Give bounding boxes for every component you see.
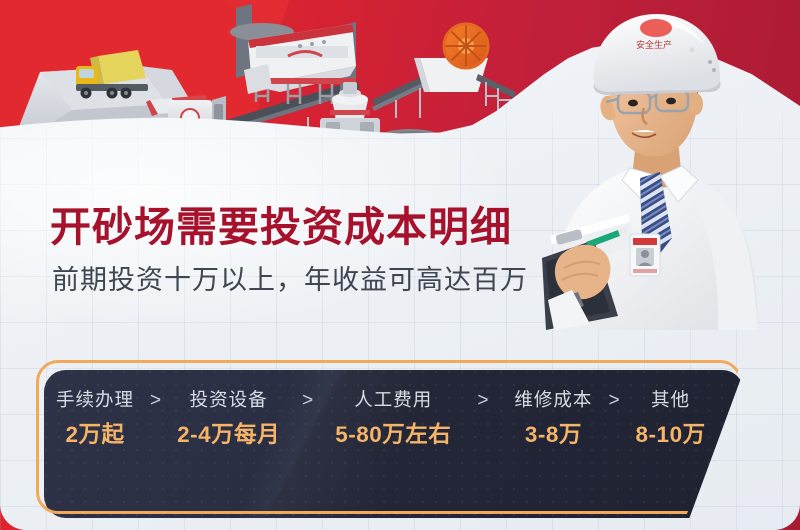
steps-list: 手续办理2万起>投资设备2-4万每月>人工费用5-80万左右>维修成本3-8万>… [56, 390, 716, 448]
step-separator-icon: > [477, 390, 488, 412]
cost-step[interactable]: 维修成本3-8万 [514, 390, 592, 448]
cost-step[interactable]: 人工费用5-80万左右 [335, 390, 451, 448]
cost-step-label: 投资设备 [190, 390, 268, 410]
cost-step-value: 2万起 [66, 423, 125, 448]
cost-step-label: 人工费用 [354, 390, 432, 410]
cost-step-value: 8-10万 [636, 423, 706, 448]
sand-washer [414, 24, 488, 92]
page-title: 开砂场需要投资成本明细 [50, 193, 512, 253]
cost-step-label: 维修成本 [514, 390, 592, 410]
cost-steps-card: 手续办理2万起>投资设备2-4万每月>人工费用5-80万左右>维修成本3-8万>… [36, 360, 764, 515]
eye-right [666, 98, 676, 105]
engineer-portrait: 安全生产 [532, 0, 782, 330]
cost-step-label: 手续办理 [56, 390, 134, 410]
cost-step[interactable]: 投资设备2-4万每月 [177, 390, 280, 448]
step-separator-icon: > [302, 390, 313, 412]
helmet-logo [640, 19, 672, 37]
cost-step-value: 2-4万每月 [177, 423, 280, 448]
step-separator-icon: > [150, 390, 161, 412]
cost-step-value: 5-80万左右 [335, 423, 451, 448]
cost-step-label: 其他 [651, 390, 690, 410]
id-badge [630, 234, 660, 276]
step-separator-icon: > [608, 390, 619, 412]
page-subtitle: 前期投资十万以上，年收益可高达百万 [52, 258, 528, 297]
white-hard-hat: 安全生产 [594, 14, 721, 95]
cost-breakdown-banner: 安全生产 [0, 0, 800, 530]
cost-step-value: 3-8万 [525, 423, 582, 448]
helmet-text: 安全生产 [636, 39, 672, 50]
eye-left [628, 100, 638, 107]
cost-step[interactable]: 其他8-10万 [636, 390, 706, 448]
cost-step[interactable]: 手续办理2万起 [56, 390, 134, 448]
